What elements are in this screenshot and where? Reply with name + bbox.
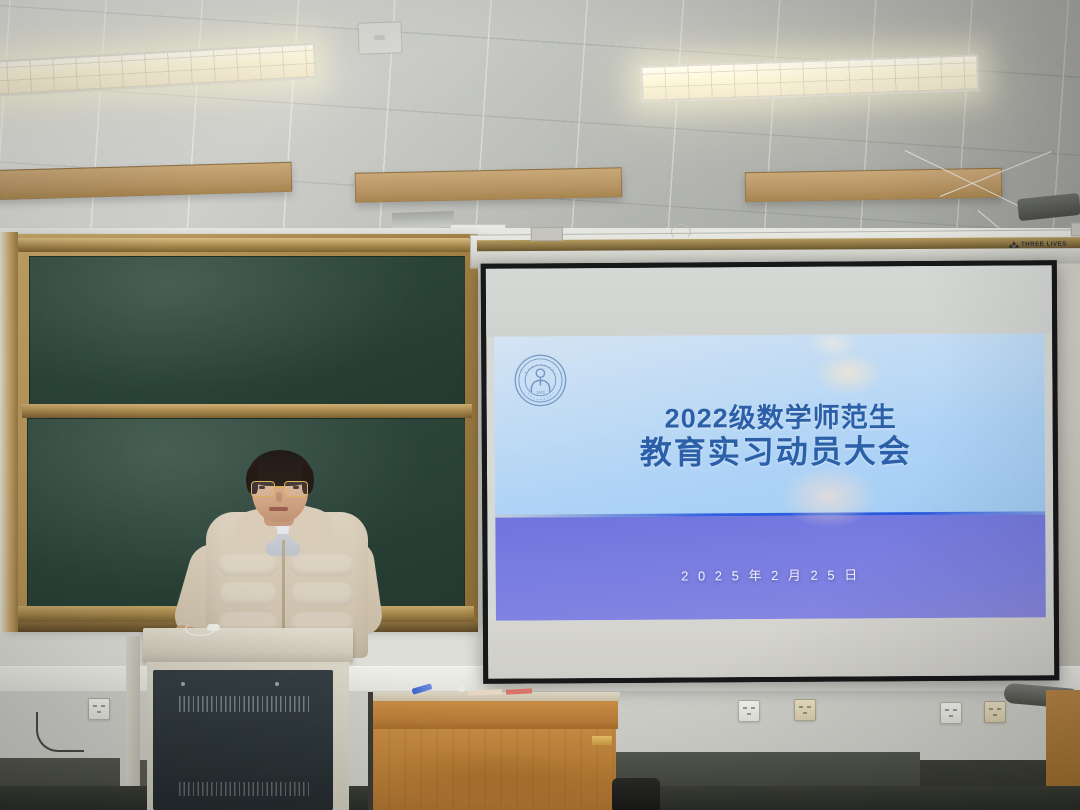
desk-apron bbox=[370, 701, 618, 729]
projection-screen: 1902 2022级数学师范生 教育实习动员大会 2 0 2 5 年 2 月 2… bbox=[481, 260, 1060, 684]
podium-vent-lower bbox=[179, 782, 311, 796]
door-jamb bbox=[126, 636, 140, 796]
wooden-desk bbox=[368, 692, 620, 810]
podium-front-panel bbox=[153, 670, 333, 810]
housing-mount-right bbox=[1071, 222, 1080, 236]
open-ceiling-tile bbox=[392, 211, 455, 229]
computer-mouse[interactable] bbox=[207, 624, 220, 631]
glasses-lens-left bbox=[251, 481, 275, 497]
right-wood-panel bbox=[1046, 690, 1080, 786]
screen-top-margin bbox=[486, 265, 1052, 336]
wood-grain-texture bbox=[372, 729, 616, 810]
desk-brass-tag bbox=[592, 736, 612, 745]
presentation-slide: 1902 2022级数学师范生 教育实习动员大会 2 0 2 5 年 2 月 2… bbox=[494, 333, 1046, 620]
slide-title-line-2: 教育实习动员大会 bbox=[495, 434, 1045, 473]
wall-light-switch-left[interactable] bbox=[88, 698, 110, 720]
panel-screw-right bbox=[275, 682, 279, 686]
glasses-lens-right bbox=[284, 481, 308, 497]
ceiling-beam-2 bbox=[355, 167, 623, 203]
speaker-at-podium bbox=[196, 448, 376, 658]
chalkboard-top-rail bbox=[18, 238, 470, 252]
screen-bottom-margin bbox=[488, 617, 1054, 678]
desk-front-panel bbox=[372, 729, 616, 810]
panel-screw-left bbox=[181, 682, 185, 686]
jacket-quilt-seam bbox=[218, 582, 278, 606]
desk-left-edge bbox=[368, 692, 373, 810]
ceiling bbox=[0, 0, 1080, 236]
white-cap-item[interactable] bbox=[458, 685, 465, 692]
dark-object-foreground bbox=[612, 778, 660, 810]
mitsubishi-diamond-icon bbox=[1009, 241, 1018, 249]
wall-light-switch-1[interactable] bbox=[738, 700, 760, 722]
housing-hook bbox=[671, 224, 691, 240]
chalkboard-left-post bbox=[0, 232, 18, 632]
podium-worktop bbox=[143, 628, 353, 662]
projector-brand-label: THREE LIVES bbox=[1009, 240, 1067, 249]
slide-date: 2 0 2 5 年 2 月 2 5 日 bbox=[496, 563, 1046, 585]
glasses-bridge bbox=[273, 486, 284, 488]
classroom-photo: THREE LIVES 1902 bbox=[0, 0, 1080, 810]
chalkboard-panel-upper bbox=[29, 256, 465, 410]
speaker-mouth bbox=[269, 507, 288, 511]
university-seal-logo: 1902 bbox=[514, 353, 568, 407]
chalkboard-middle-rail bbox=[22, 404, 472, 418]
jacket-quilt-seam bbox=[218, 554, 278, 576]
slide-title-line-1: 2022级数学师范生 bbox=[495, 401, 1045, 435]
podium-vent-upper bbox=[179, 696, 311, 712]
wall-light-switch-2[interactable] bbox=[940, 702, 962, 724]
housing-mount-left bbox=[531, 227, 563, 241]
jacket-quilt-seam bbox=[290, 582, 354, 606]
ceiling-vent bbox=[357, 21, 402, 55]
wall-power-outlet-2[interactable] bbox=[984, 701, 1006, 723]
housing-metal-bar bbox=[477, 236, 1080, 251]
speaker-nose bbox=[276, 492, 282, 502]
slide-title: 2022级数学师范生 教育实习动员大会 bbox=[495, 401, 1045, 472]
ceiling-beam-3 bbox=[745, 168, 1002, 202]
jacket-quilt-seam bbox=[290, 554, 354, 576]
lectern-podium bbox=[143, 628, 353, 810]
wall-power-outlet-1[interactable] bbox=[794, 699, 816, 721]
brand-text: THREE LIVES bbox=[1021, 241, 1067, 247]
wall-hanging-cable bbox=[36, 712, 84, 752]
svg-text:1902: 1902 bbox=[536, 390, 546, 395]
ceiling-shading bbox=[0, 0, 1080, 236]
